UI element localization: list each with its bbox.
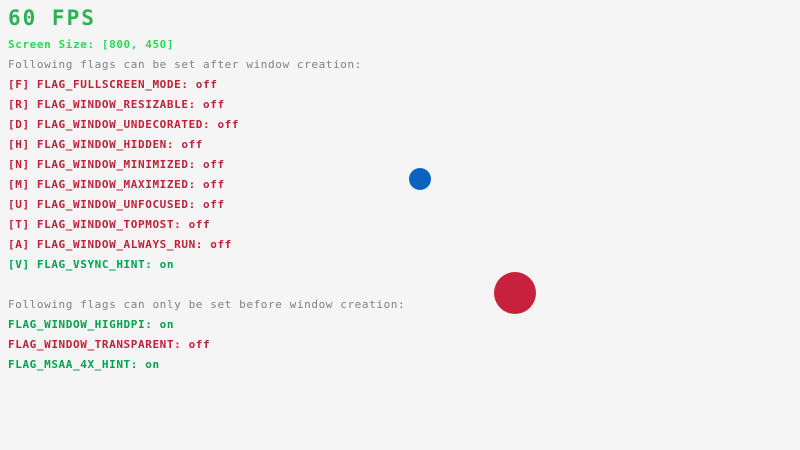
flag-flag-window-unfocused[interactable]: [U] FLAG_WINDOW_UNFOCUSED: off <box>8 199 225 210</box>
flag-flag-window-topmost[interactable]: [T] FLAG_WINDOW_TOPMOST: off <box>8 219 210 230</box>
screen-size-label: Screen Size: [800, 450] <box>8 39 174 50</box>
red-ball-shape <box>494 272 536 314</box>
fps-counter: 60 FPS <box>8 8 96 29</box>
blue-ball-shape <box>409 168 431 190</box>
runtime-flags-heading: Following flags can be set after window … <box>8 59 362 70</box>
flag-flag-window-always-run[interactable]: [A] FLAG_WINDOW_ALWAYS_RUN: off <box>8 239 232 250</box>
flag-flag-window-undecorated[interactable]: [D] FLAG_WINDOW_UNDECORATED: off <box>8 119 239 130</box>
startup-flags-heading: Following flags can only be set before w… <box>8 299 405 310</box>
app-window: 60 FPS Screen Size: [800, 450] Following… <box>0 0 800 450</box>
flag-flag-window-resizable[interactable]: [R] FLAG_WINDOW_RESIZABLE: off <box>8 99 225 110</box>
flag-flag-vsync-hint[interactable]: [V] FLAG_VSYNC_HINT: on <box>8 259 174 270</box>
flag-flag-window-maximized[interactable]: [M] FLAG_WINDOW_MAXIMIZED: off <box>8 179 225 190</box>
flag-flag-msaa-4x-hint[interactable]: FLAG_MSAA_4X_HINT: on <box>8 359 160 370</box>
flag-flag-window-minimized[interactable]: [N] FLAG_WINDOW_MINIMIZED: off <box>8 159 225 170</box>
flag-flag-window-transparent[interactable]: FLAG_WINDOW_TRANSPARENT: off <box>8 339 210 350</box>
flag-flag-window-hidden[interactable]: [H] FLAG_WINDOW_HIDDEN: off <box>8 139 203 150</box>
flag-flag-window-highdpi[interactable]: FLAG_WINDOW_HIGHDPI: on <box>8 319 174 330</box>
flag-flag-fullscreen-mode[interactable]: [F] FLAG_FULLSCREEN_MODE: off <box>8 79 217 90</box>
